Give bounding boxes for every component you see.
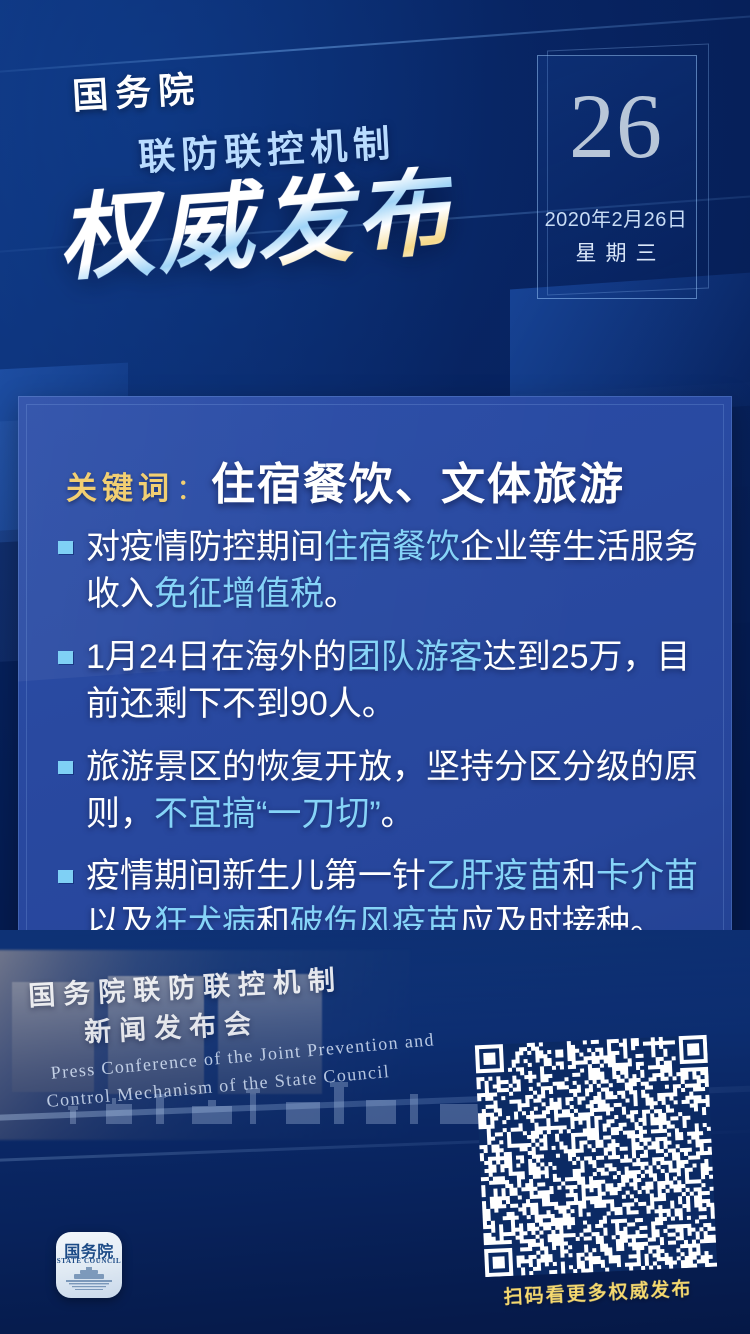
bullet-tax-exemption: 对疫情防控期间住宿餐饮企业等生活服务收入免征增值税。 bbox=[56, 524, 710, 618]
bullet-highlight-text: 不宜搞“一刀切” bbox=[154, 795, 381, 833]
keyword-value: 住宿餐饮、文体旅游 bbox=[211, 448, 625, 512]
bullet-highlight-text: 团队游客 bbox=[347, 638, 483, 676]
bullet-text: 。 bbox=[324, 575, 358, 613]
bullet-text: 。 bbox=[381, 795, 415, 833]
bullet-scenic-areas: 旅游景区的恢复开放，坚持分区分级的原则，不宜搞“一刀切”。 bbox=[56, 744, 710, 838]
bullet-highlight-text: 住宿餐饮 bbox=[324, 528, 460, 566]
bullet-marker-icon bbox=[58, 651, 73, 664]
bullet-text: 对疫情防控期间 bbox=[86, 528, 324, 566]
poster-title-wrap: 权威发布 bbox=[55, 164, 457, 287]
bullet-marker-icon bbox=[58, 761, 73, 774]
bullet-marker-icon bbox=[58, 541, 73, 554]
page-title: 权威发布 bbox=[55, 164, 457, 287]
state-council-logo: 国务院 STATE COUNCIL bbox=[56, 1232, 122, 1298]
government-building-icon bbox=[62, 1266, 116, 1292]
logo-label-en: STATE COUNCIL bbox=[56, 1257, 122, 1265]
bullet-overseas-tourists: 1月24日在海外的团队游客达到25万，目前还剩下不到90人。 bbox=[56, 634, 710, 728]
bullet-marker-icon bbox=[58, 870, 73, 883]
skyline-graphic bbox=[60, 1080, 540, 1124]
date-day-number: 26 bbox=[537, 80, 695, 172]
bullet-text: 疫情期间新生儿第一针 bbox=[86, 857, 426, 895]
bullet-highlight-text: 免征增值税 bbox=[154, 575, 324, 613]
bullet-text: 1月24日在海外的 bbox=[86, 638, 347, 676]
date-weekday: 星期三 bbox=[537, 237, 695, 267]
poster-header: 国务院 联防联控机制 权威发布 26 2020年2月26日 星期三 bbox=[0, 0, 750, 400]
bullet-highlight-text: 乙肝疫苗 bbox=[426, 857, 562, 895]
bullet-highlight-text: 卡介苗 bbox=[596, 857, 698, 895]
brand-line-state-council: 国务院 bbox=[71, 60, 203, 119]
poster-root: 国务院 联防联控机制 权威发布 26 2020年2月26日 星期三 关键词 ： … bbox=[0, 0, 750, 1334]
date-full-text: 2020年2月26日 bbox=[537, 203, 695, 232]
bullet-text: 和 bbox=[562, 857, 596, 895]
qr-code[interactable] bbox=[475, 1035, 717, 1277]
date-box: 26 2020年2月26日 星期三 bbox=[537, 55, 699, 298]
qr-code-canvas[interactable] bbox=[475, 1035, 717, 1277]
keyword-label: 关键词 bbox=[66, 463, 174, 508]
keyword-colon: ： bbox=[176, 466, 205, 508]
keyword-row: 关键词 ： 住宿餐饮、文体旅游 bbox=[66, 448, 625, 512]
